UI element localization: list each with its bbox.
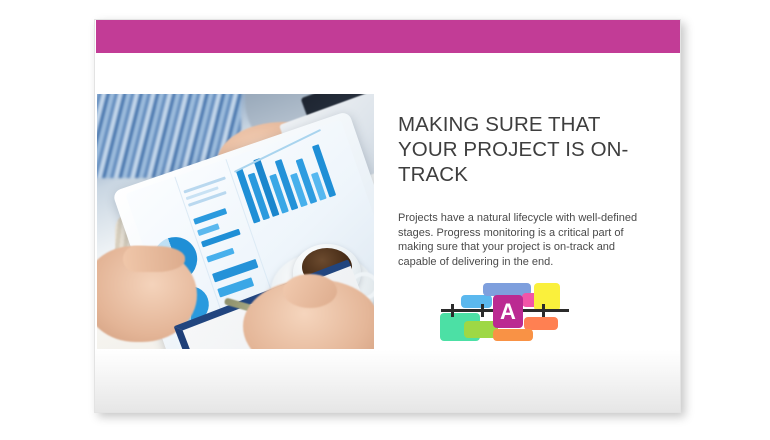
bar-orange xyxy=(493,329,533,341)
photo-index-finger xyxy=(123,246,185,272)
gantt-tick-1 xyxy=(451,304,454,317)
card-bottom-gradient xyxy=(95,350,680,412)
slide-body-text: Projects have a natural lifecycle with w… xyxy=(398,211,646,269)
gantt-tick-4 xyxy=(542,304,545,317)
bar-blue-small xyxy=(461,295,492,308)
slide-card: MAKING SURE THAT YOUR PROJECT IS ON-TRAC… xyxy=(94,19,681,413)
gantt-milestone-box: A xyxy=(493,295,523,328)
bar-yellow xyxy=(534,283,560,311)
slide-title: MAKING SURE THAT YOUR PROJECT IS ON-TRAC… xyxy=(398,112,656,187)
gantt-chart-icon: A xyxy=(436,273,572,343)
slide-photo xyxy=(97,94,374,349)
gantt-milestone-letter: A xyxy=(500,301,516,323)
header-accent-band xyxy=(96,20,681,53)
slide-text-column: MAKING SURE THAT YOUR PROJECT IS ON-TRAC… xyxy=(398,112,656,269)
gantt-tick-2 xyxy=(481,304,484,317)
photo-thumb xyxy=(283,274,337,308)
